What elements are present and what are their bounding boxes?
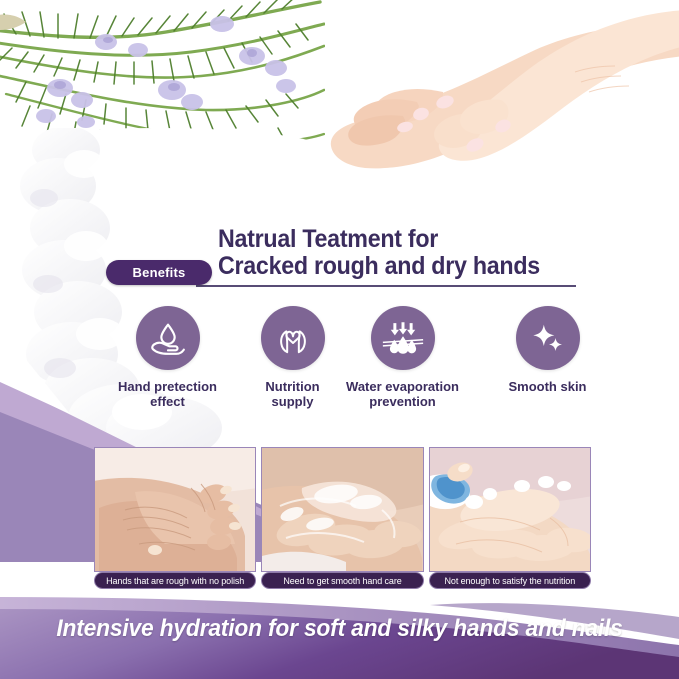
benefit-item-hand-protection: Hand pretection effect [100, 306, 235, 409]
dry-rough-hands-photo [94, 447, 256, 572]
cream-tube-dispensing-onto-hand-photo [429, 447, 591, 572]
benefit-item-smooth-skin: Smooth skin [490, 306, 605, 394]
droplets-with-down-arrows-icon [371, 306, 435, 370]
benefit-label: Water evaporation prevention [315, 379, 490, 409]
benefit-label: Hand pretection effect [100, 379, 235, 409]
product-infographic: Natrual Teatment for Cracked rough and d… [0, 0, 679, 679]
benefits-icon-row: Hand pretection effect Nutrition supply [100, 306, 600, 436]
benefits-badge-label: Benefits [133, 265, 186, 280]
bottom-banner: Intensive hydration for soft and silky h… [0, 587, 679, 679]
hand-with-droplet-icon [136, 306, 200, 370]
hero-section [0, 0, 679, 240]
benefit-item-water-evaporation: Water evaporation prevention [315, 306, 490, 409]
rosemary-sprigs-with-flowers-photo [0, 0, 326, 205]
banner-tagline: Intensive hydration for soft and silky h… [17, 615, 662, 643]
headline-divider [196, 285, 576, 287]
benefits-badge: Benefits [106, 260, 212, 285]
benefit-label: Smooth skin [490, 379, 605, 394]
hands-with-cream-applied-photo [261, 447, 423, 572]
page-title: Natrual Teatment for Cracked rough and d… [218, 226, 609, 280]
two-manicured-hands-photo [325, 0, 679, 211]
sparkles-icon [516, 306, 580, 370]
photo-strip [94, 447, 591, 572]
